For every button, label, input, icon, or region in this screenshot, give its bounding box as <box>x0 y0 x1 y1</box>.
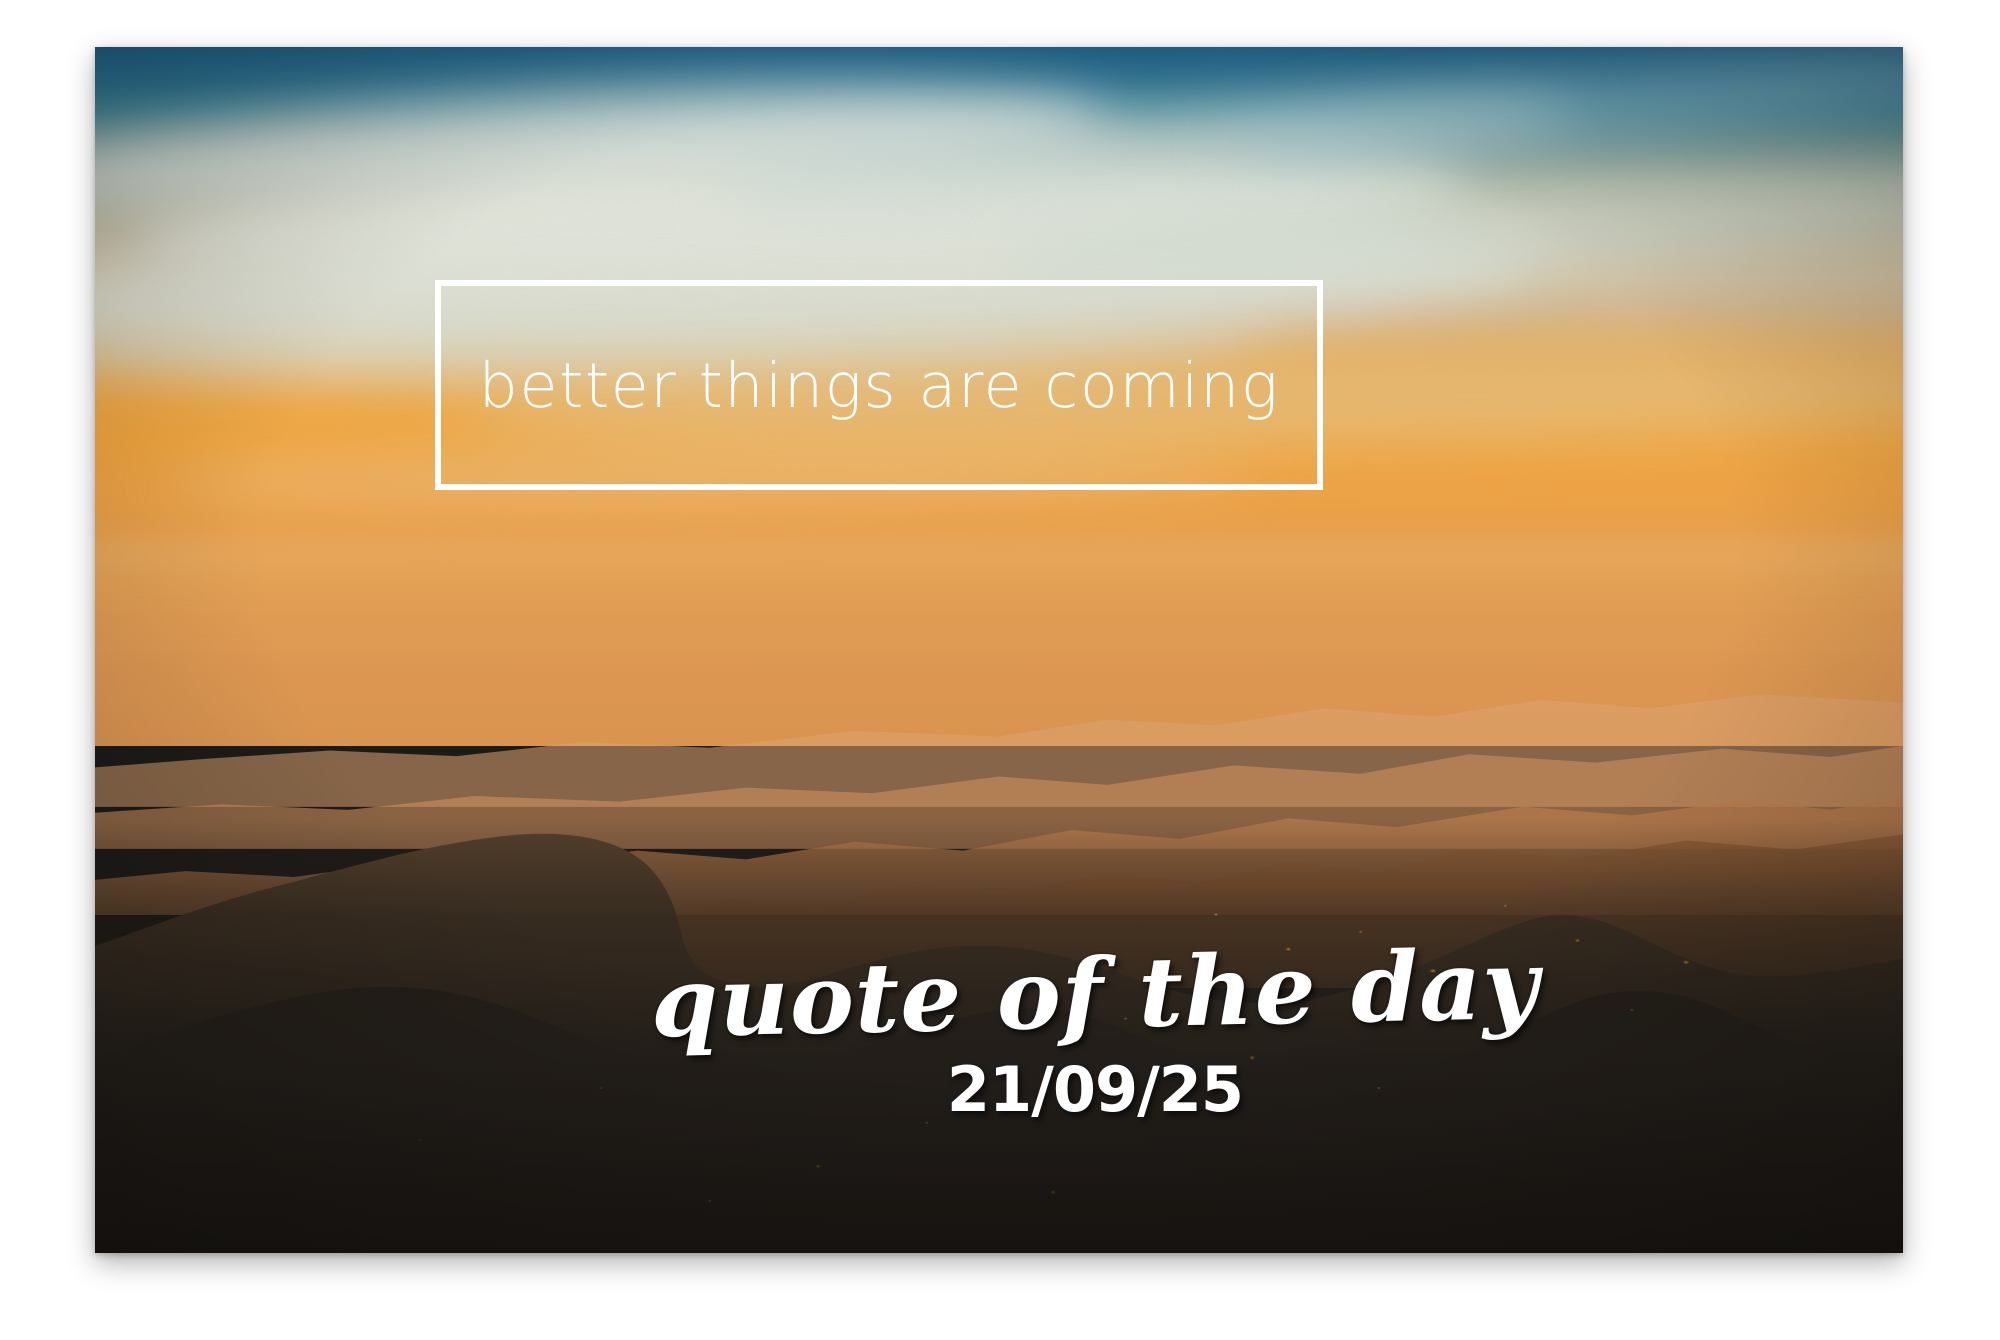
headline-text: better things are coming <box>435 280 1323 490</box>
quote-card: better things are coming quote of the da… <box>95 47 1903 1253</box>
haze-band <box>95 541 1903 572</box>
screenshot-root: better things are coming quote of the da… <box>0 0 2000 1340</box>
haze-band <box>95 582 1903 609</box>
date-text: 21/09/25 <box>95 1053 1903 1126</box>
